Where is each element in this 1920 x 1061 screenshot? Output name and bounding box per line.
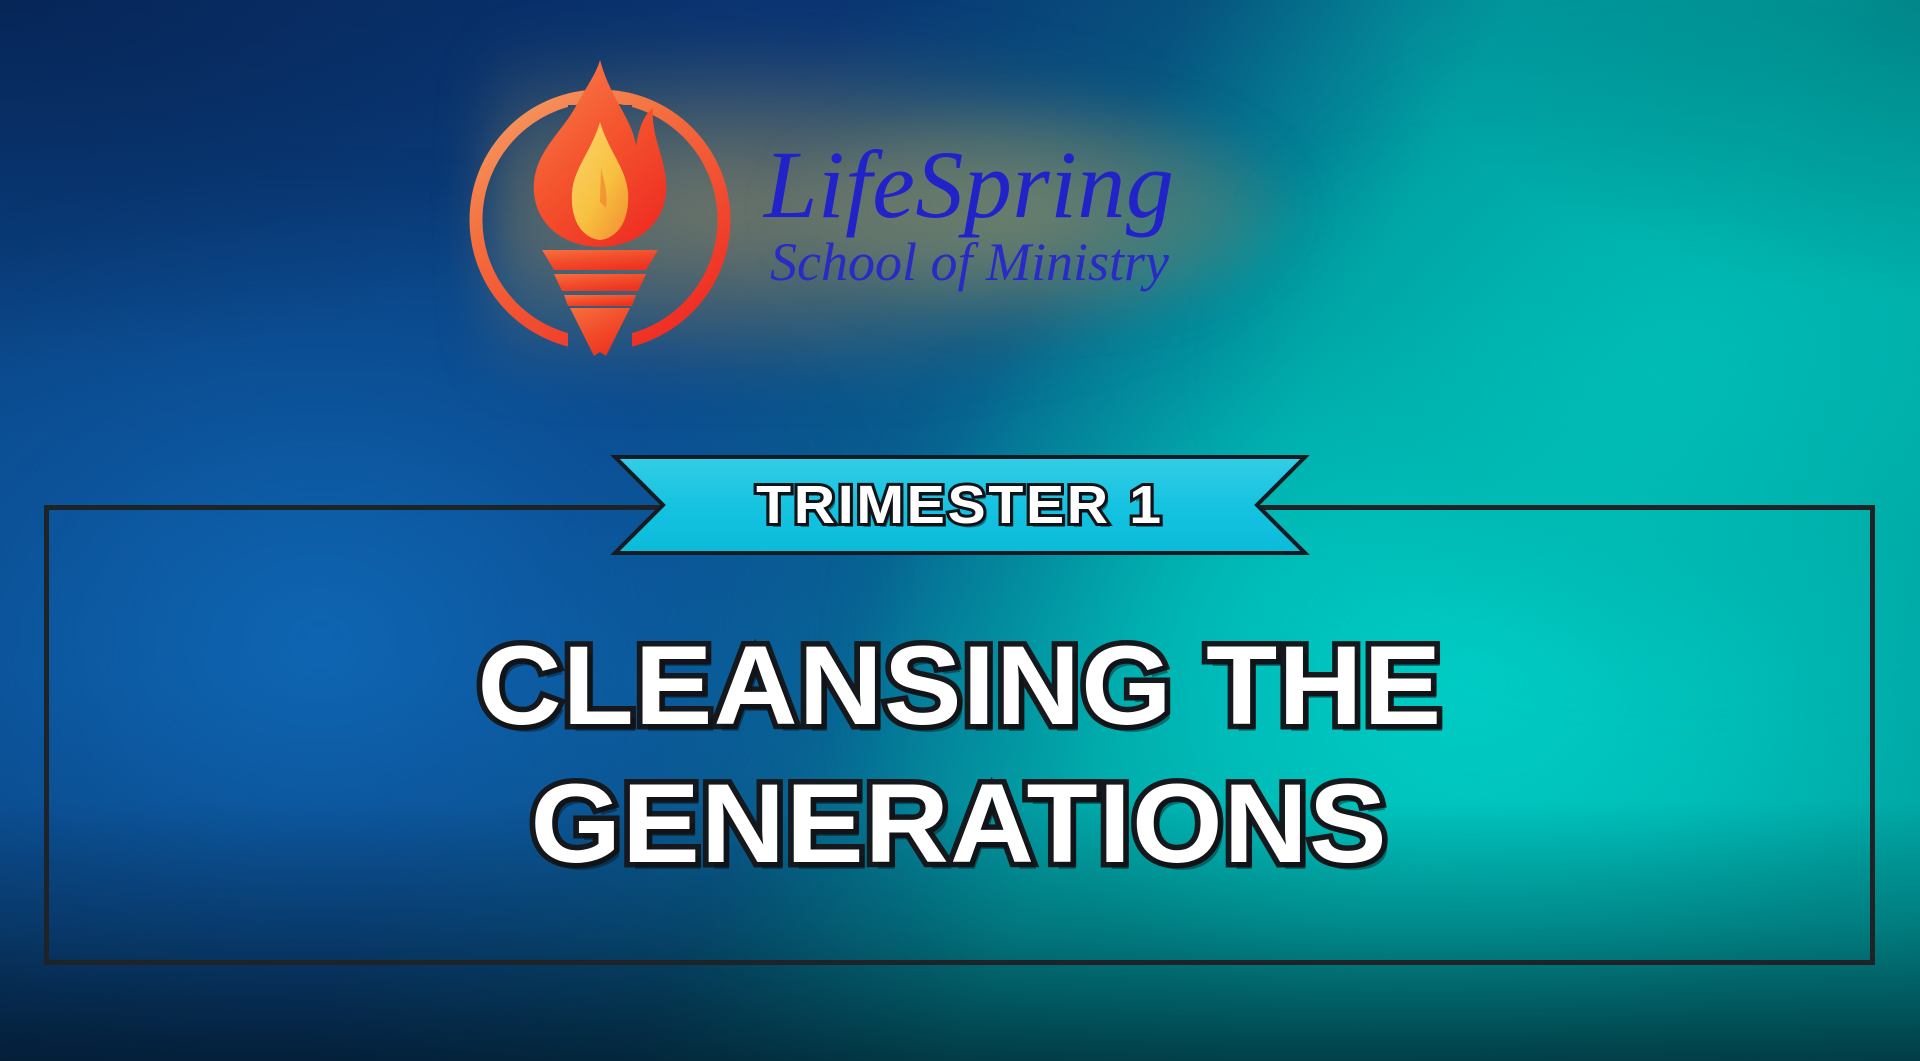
lesson-title-line-1: CLEANSING THE [477, 629, 1442, 743]
trimester-ribbon-banner: TRIMESTER 1 [613, 455, 1307, 555]
brand-tagline: School of Ministry [770, 233, 1169, 292]
brand-logo: LifeSpring School of Ministry [450, 40, 1290, 370]
brand-logo-text: LifeSpring School of Ministry [764, 117, 1174, 293]
slide-canvas: LifeSpring School of Ministry TRIMESTER … [0, 0, 1920, 1061]
background-vignette-top-right [1400, 0, 1920, 300]
brand-name: LifeSpring [764, 139, 1174, 231]
trimester-ribbon-label: TRIMESTER 1 [592, 455, 1328, 555]
lesson-title-line-2: GENERATIONS [531, 767, 1388, 881]
torch-flame-in-circle-icon [450, 50, 750, 360]
lesson-title-block: CLEANSING THE GENERATIONS [44, 560, 1875, 950]
